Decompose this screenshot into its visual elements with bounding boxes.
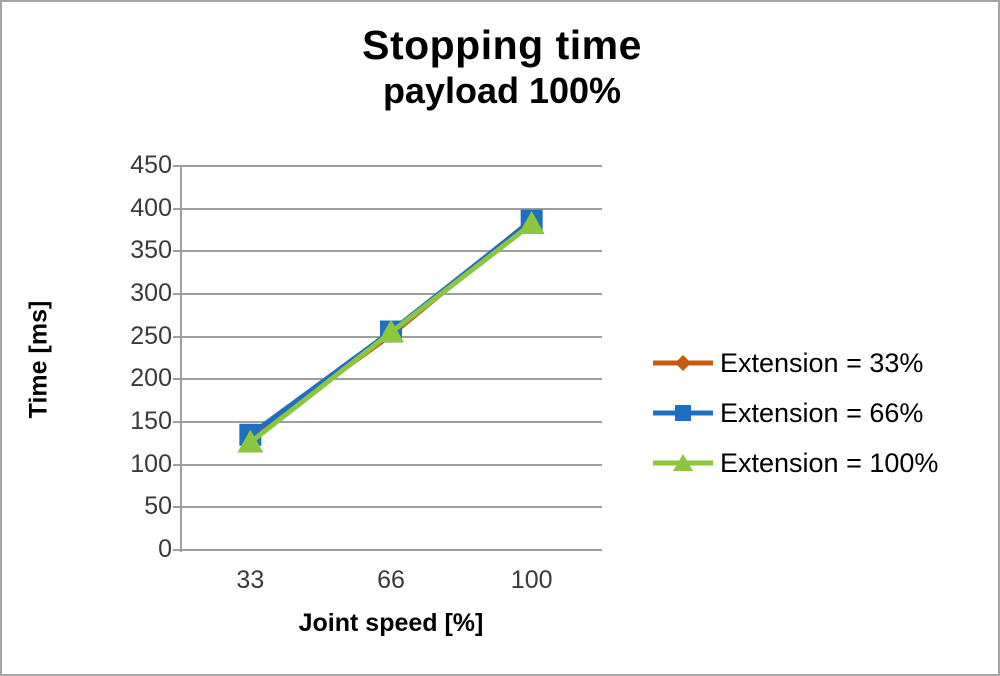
legend-marker-triangle-icon [652, 451, 714, 475]
legend-label: Extension = 66% [720, 398, 923, 429]
legend-marker-diamond-icon [652, 351, 714, 375]
legend-item-extension-33[interactable]: Extension = 33% [652, 338, 992, 388]
chart-image: Stopping time payload 100% 4504003503002… [0, 0, 1000, 676]
legend-label: Extension = 100% [720, 448, 938, 479]
legend: Extension = 33% Extension = 66% Extensio… [652, 338, 992, 488]
legend-item-extension-66[interactable]: Extension = 66% [652, 388, 992, 438]
legend-item-extension-100[interactable]: Extension = 100% [652, 438, 992, 488]
legend-label: Extension = 33% [720, 348, 923, 379]
legend-marker-square-icon [652, 401, 714, 425]
